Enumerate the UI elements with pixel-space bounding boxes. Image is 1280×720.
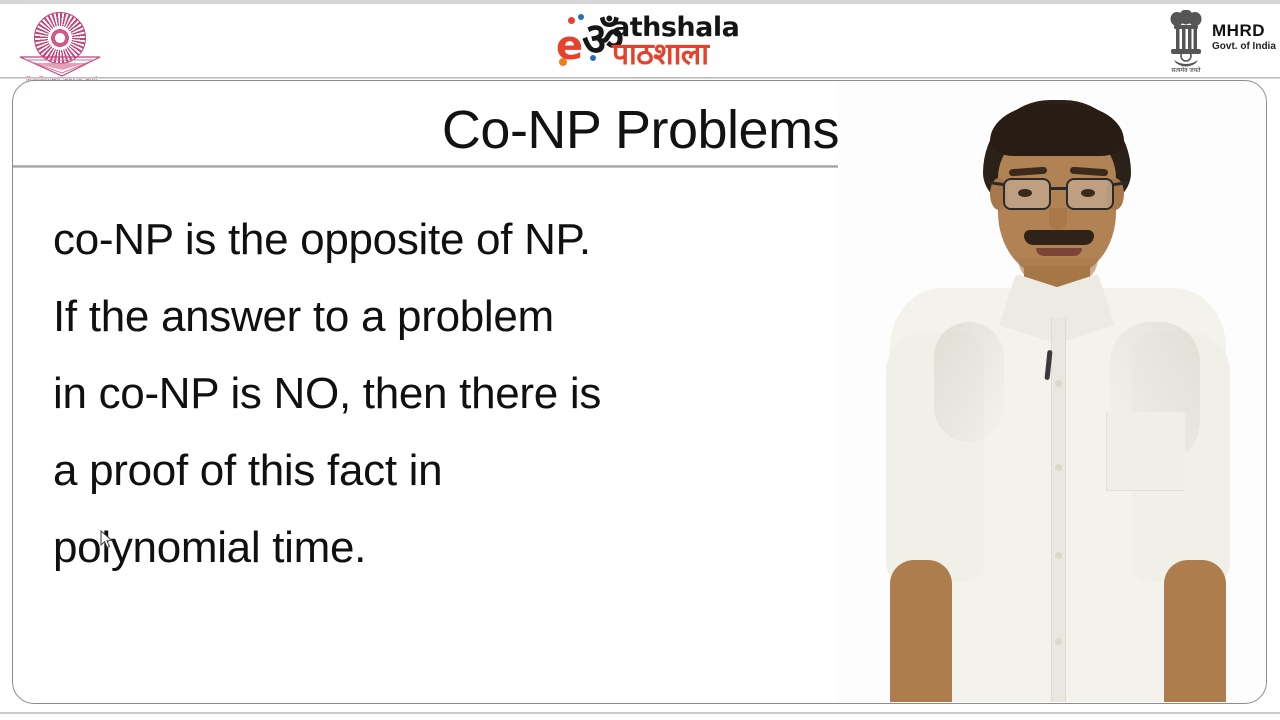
presenter-arm-left: [890, 560, 952, 702]
body-line: co-NP is the opposite of NP.: [53, 201, 843, 278]
body-line: If the answer to a problem: [53, 278, 843, 355]
presenter-shirt-button: [1055, 380, 1062, 387]
presenter-mouth: [1036, 248, 1082, 256]
presenter-shirt-pocket: [1106, 412, 1185, 491]
body-line: a proof of this fact in: [53, 432, 843, 509]
presenter-shirt-shading-left: [934, 322, 1004, 442]
presenter-shirt-button: [1055, 464, 1062, 471]
slide-body: co-NP is the opposite of NP. If the answ…: [53, 201, 843, 586]
epathshala-dot-blue2-icon: [590, 55, 596, 61]
presenter-shirt-button: [1055, 638, 1062, 645]
mouse-cursor-icon: [100, 530, 114, 550]
epathshala-dot-red-icon: [568, 17, 575, 24]
body-line: polynomial time.: [53, 509, 843, 586]
body-line: in co-NP is NO, then there is: [53, 355, 843, 432]
epathshala-logo: e ॐ athshala पाठशाला: [556, 12, 756, 74]
page-header: विश्वविद्यालय अनुदान आयोग e ॐ athshala प…: [0, 4, 1280, 78]
presenter-hairline: [990, 104, 1124, 156]
mhrd-logo: सत्यमेव जयते MHRD Govt. of India: [1160, 8, 1278, 82]
ugc-logo: विश्वविद्यालय अनुदान आयोग: [14, 8, 106, 84]
presenter-eye-right: [1081, 189, 1095, 197]
presenter-mustache: [1024, 230, 1094, 245]
presenter-nose: [1049, 208, 1067, 230]
ashoka-emblem-caption: सत्यमेव जयते: [1162, 66, 1210, 74]
presenter-video: [838, 82, 1266, 702]
ashoka-emblem-icon: [1164, 10, 1208, 72]
presenter-arm-right: [1164, 560, 1226, 702]
epathshala-wordmark-hindi: पाठशाला: [612, 40, 709, 70]
bottom-strip: [0, 714, 1280, 720]
ugc-base-icon: [18, 56, 102, 78]
epathshala-dot-orange-icon: [559, 58, 567, 66]
header-divider: [0, 77, 1280, 79]
presenter-eye-left: [1018, 189, 1032, 197]
mhrd-subtitle: Govt. of India: [1212, 42, 1276, 52]
epathshala-dot-blue-icon: [578, 14, 584, 20]
presenter-shirt-button: [1055, 552, 1062, 559]
presenter-glasses-bridge: [1051, 187, 1066, 190]
mhrd-title: MHRD: [1212, 22, 1265, 39]
epathshala-mark-icon: e ॐ: [556, 14, 618, 70]
